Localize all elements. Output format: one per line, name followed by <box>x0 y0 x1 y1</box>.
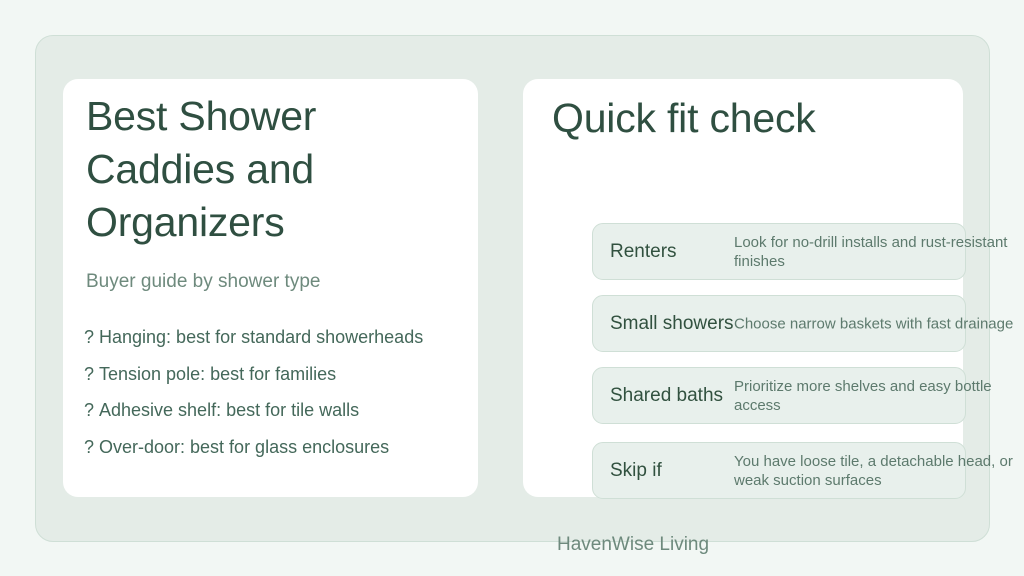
table-row: Skip if You have loose tile, a detachabl… <box>592 442 966 499</box>
row-label: Shared baths <box>610 385 723 407</box>
list-item: ?Adhesive shelf: best for tile walls <box>84 392 484 429</box>
row-label: Small showers <box>610 313 734 335</box>
table-row: Renters Look for no-drill installs and r… <box>592 223 966 280</box>
list-item: ?Tension pole: best for families <box>84 356 484 393</box>
page-title: Best Shower Caddies and Organizers <box>86 90 466 249</box>
row-description: Prioritize more shelves and easy bottle … <box>734 377 1024 415</box>
list-item: ?Hanging: best for standard showerheads <box>84 319 484 356</box>
list-item-label: Hanging: best for standard showerheads <box>99 327 423 347</box>
overview-card: Best Shower Caddies and Organizers Buyer… <box>63 79 478 497</box>
quick-fit-check-heading: Quick fit check <box>552 95 816 142</box>
shower-type-list: ?Hanging: best for standard showerheads … <box>84 319 484 465</box>
bullet-marker-icon: ? <box>84 356 99 393</box>
quick-fit-check-card: Quick fit check Renters Look for no-dril… <box>523 79 963 497</box>
list-item-label: Over-door: best for glass enclosures <box>99 437 389 457</box>
list-item: ?Over-door: best for glass enclosures <box>84 429 484 466</box>
list-item-label: Tension pole: best for families <box>99 364 336 384</box>
row-label: Renters <box>610 241 677 263</box>
slide-panel: Best Shower Caddies and Organizers Buyer… <box>35 35 990 542</box>
row-label: Skip if <box>610 460 662 482</box>
page-subtitle: Buyer guide by shower type <box>86 271 456 293</box>
row-description: Look for no-drill installs and rust-resi… <box>734 233 1016 271</box>
row-description: You have loose tile, a detachable head, … <box>734 452 1024 490</box>
row-description: Choose narrow baskets with fast drainage <box>734 314 1024 333</box>
list-item-label: Adhesive shelf: best for tile walls <box>99 400 359 420</box>
table-row: Small showers Choose narrow baskets with… <box>592 295 966 352</box>
table-row: Shared baths Prioritize more shelves and… <box>592 367 966 424</box>
bullet-marker-icon: ? <box>84 429 99 466</box>
brand-footer: HavenWise Living <box>557 534 709 556</box>
bullet-marker-icon: ? <box>84 319 99 356</box>
bullet-marker-icon: ? <box>84 392 99 429</box>
